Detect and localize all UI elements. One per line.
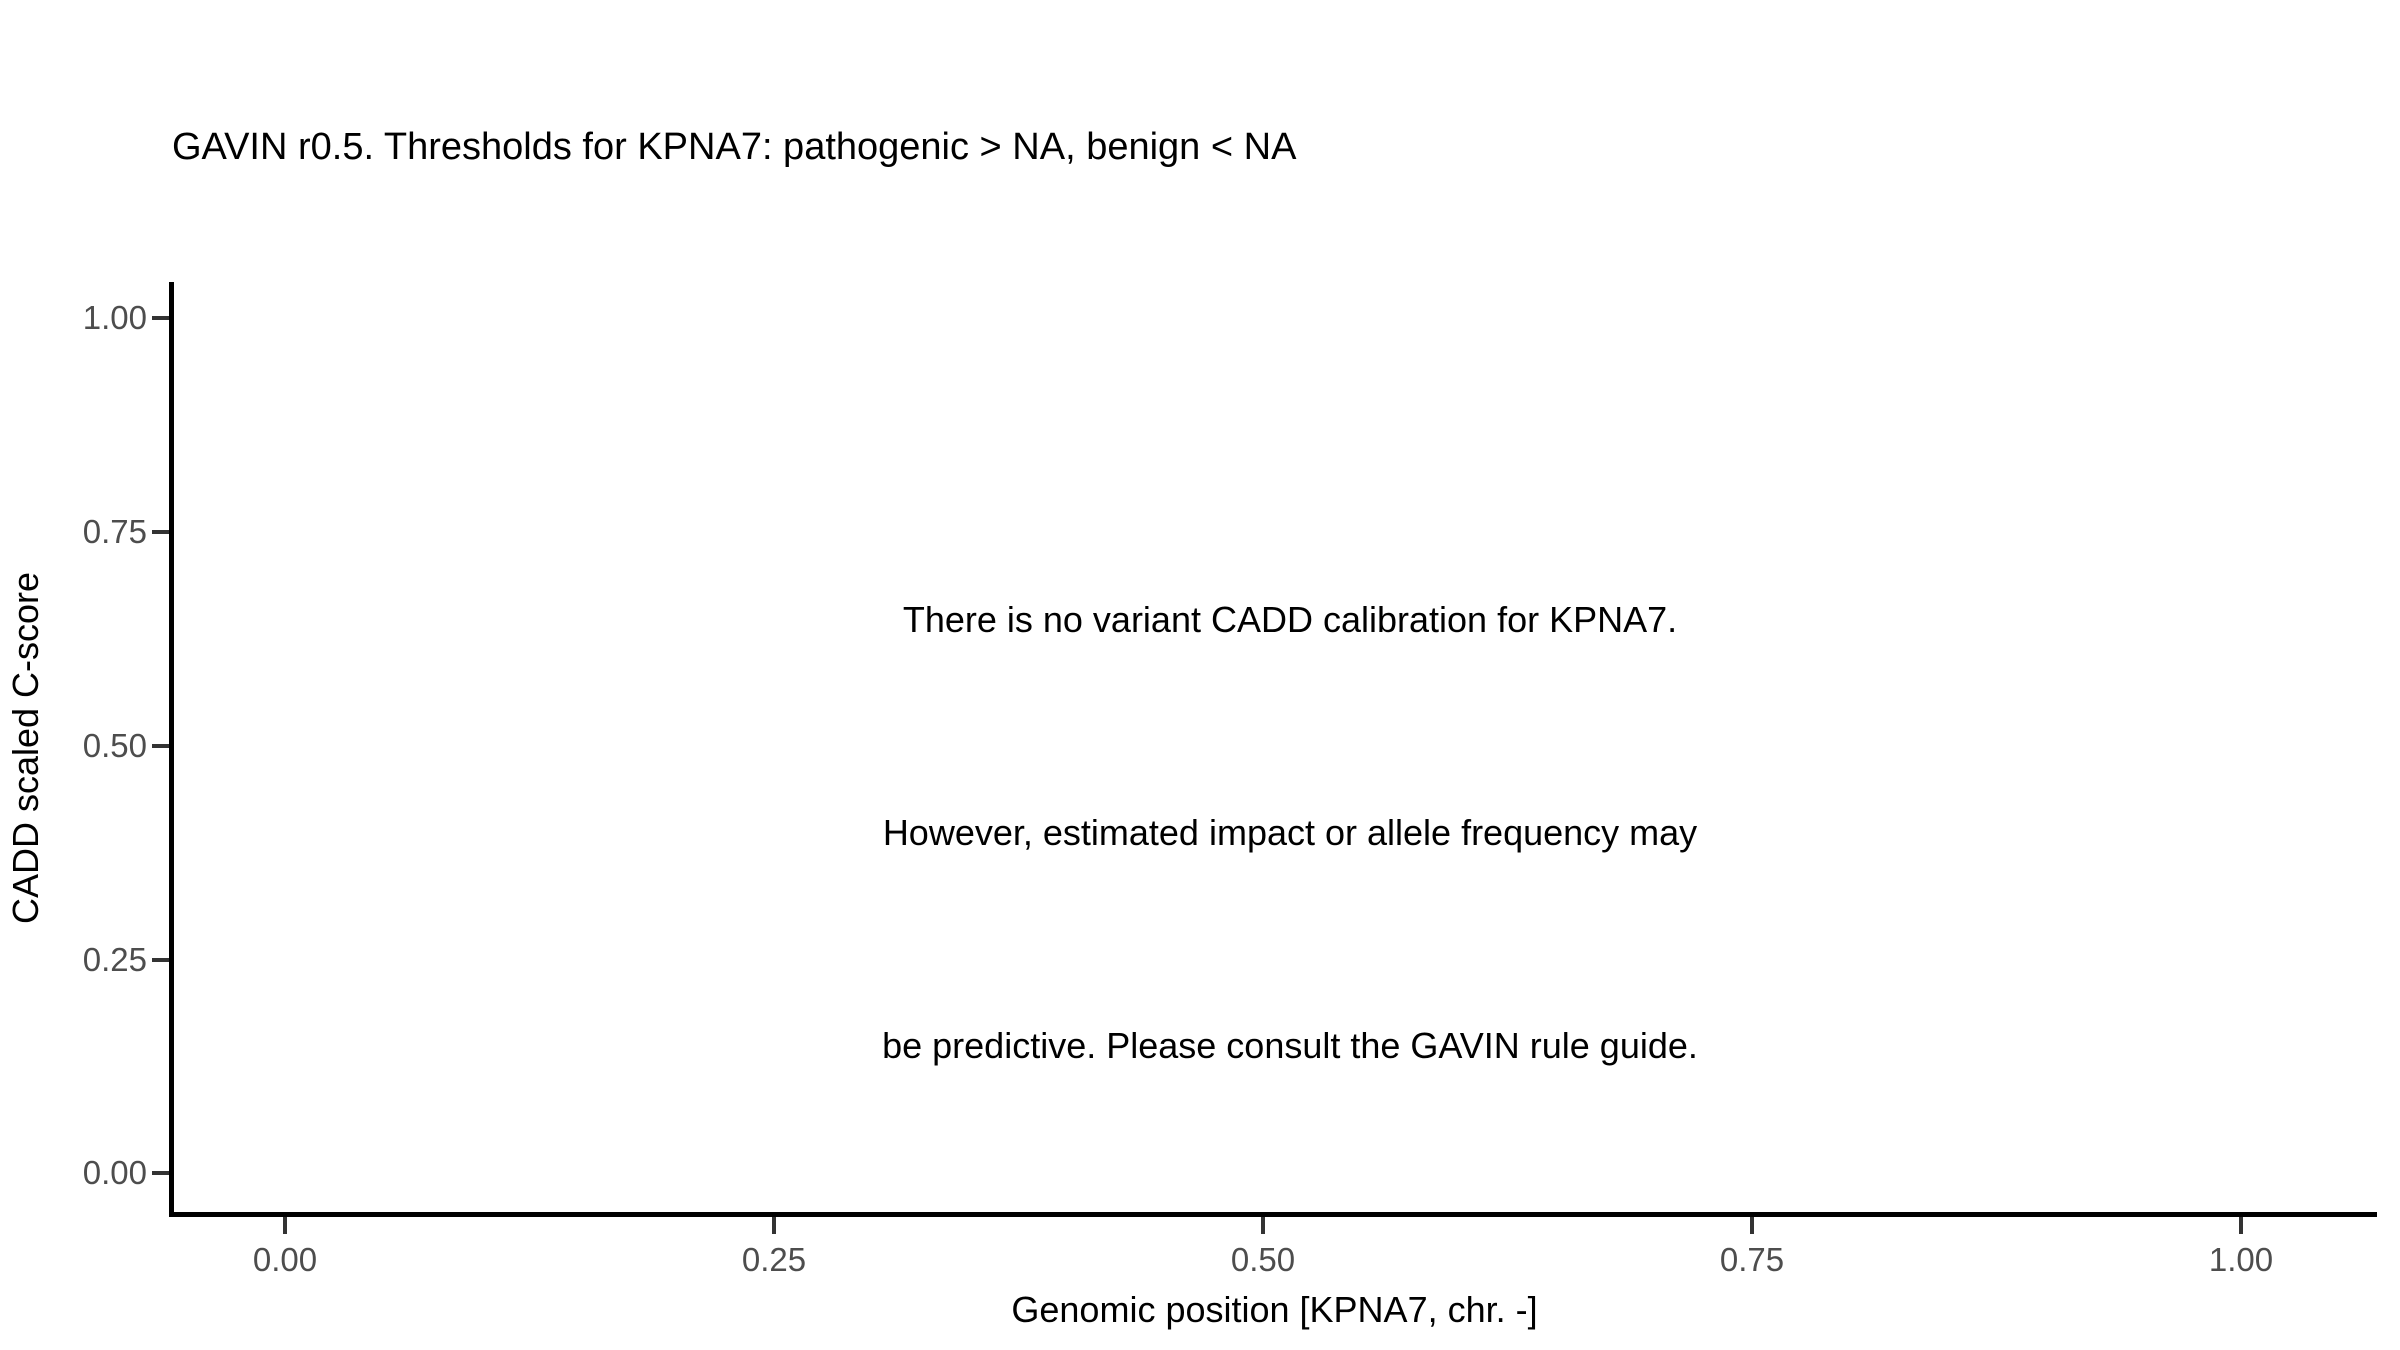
x-tick-mark-0.00	[283, 1217, 287, 1234]
x-axis-title: Genomic position [KPNA7, chr. -]	[172, 1288, 2377, 1332]
y-tick-label-0.50: 0.50	[83, 729, 147, 762]
x-tick-label-0.00: 0.00	[253, 1243, 317, 1276]
y-tick-label-0.25: 0.25	[83, 943, 147, 976]
y-tick-mark-0.75	[152, 530, 169, 534]
x-tick-label-1.00: 1.00	[2209, 1243, 2273, 1276]
x-tick-label-0.25: 0.25	[742, 1243, 806, 1276]
y-tick-mark-1.00	[152, 316, 169, 320]
annotation-line-3: be predictive. Please consult the GAVIN …	[690, 1010, 1890, 1081]
y-tick-label-0.00: 0.00	[83, 1156, 147, 1189]
y-tick-mark-0.50	[152, 744, 169, 748]
y-tick-mark-0.00	[152, 1171, 169, 1175]
no-calibration-annotation: There is no variant CADD calibration for…	[690, 442, 1890, 1223]
x-tick-label-0.50: 0.50	[1231, 1243, 1295, 1276]
y-axis-line	[169, 282, 174, 1217]
annotation-line-2: However, estimated impact or allele freq…	[690, 797, 1890, 868]
x-tick-mark-1.00	[2239, 1217, 2243, 1234]
annotation-line-1: There is no variant CADD calibration for…	[690, 584, 1890, 655]
y-tick-label-1.00: 1.00	[83, 301, 147, 334]
y-axis-title: CADD scaled C-score	[0, 282, 52, 1214]
y-tick-label-0.75: 0.75	[83, 515, 147, 548]
x-tick-label-0.75: 0.75	[1720, 1243, 1784, 1276]
plot-figure: GAVIN r0.5. Thresholds for KPNA7: pathog…	[0, 0, 2400, 1350]
plot-title-line-1: GAVIN r0.5. Thresholds for KPNA7: pathog…	[172, 119, 2372, 176]
y-tick-mark-0.25	[152, 958, 169, 962]
